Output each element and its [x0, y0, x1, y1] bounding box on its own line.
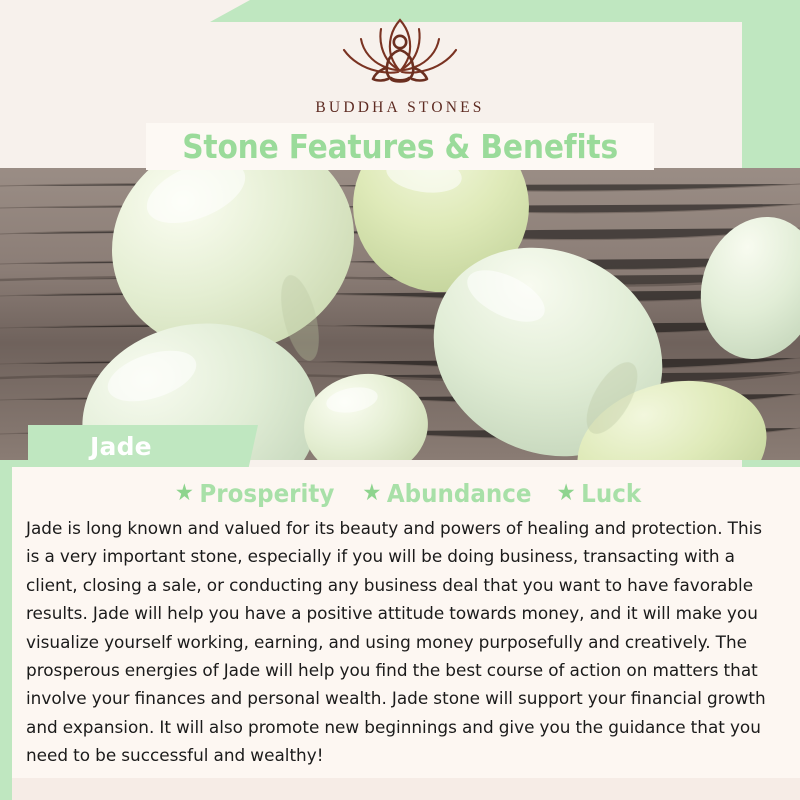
benefits-list: ★ Prosperity ★ Abundance ★ Luck — [12, 475, 800, 511]
stone-name: Jade — [90, 432, 152, 461]
benefit-label: Abundance — [387, 479, 532, 508]
star-icon: ★ — [362, 482, 381, 505]
benefit-label: Luck — [581, 479, 641, 508]
content-panel: ★ Prosperity ★ Abundance ★ Luck Jade is … — [12, 467, 800, 800]
lotus-meditation-icon — [325, 12, 475, 95]
benefit-label: Prosperity — [199, 479, 334, 508]
star-icon: ★ — [556, 482, 575, 505]
stone-benefits-infographic: BUDDHA STONES Stone Features & Benefits — [0, 0, 800, 800]
benefit-item: ★ Prosperity — [174, 479, 333, 508]
decorative-band-left-strip — [0, 440, 12, 800]
brand-header: BUDDHA STONES — [0, 0, 800, 128]
stone-description: Jade is long known and valued for its be… — [26, 515, 767, 771]
brand-wordmark: BUDDHA STONES — [315, 99, 484, 117]
page-title: Stone Features & Benefits — [182, 127, 618, 166]
title-plate: Stone Features & Benefits — [146, 123, 654, 170]
content-bottom-tint — [12, 778, 800, 800]
stone-photo — [0, 168, 800, 460]
benefit-item: ★ Luck — [556, 479, 640, 508]
stone-name-banner: Jade — [28, 425, 258, 467]
benefit-item: ★ Abundance — [362, 479, 531, 508]
star-icon: ★ — [174, 482, 193, 505]
